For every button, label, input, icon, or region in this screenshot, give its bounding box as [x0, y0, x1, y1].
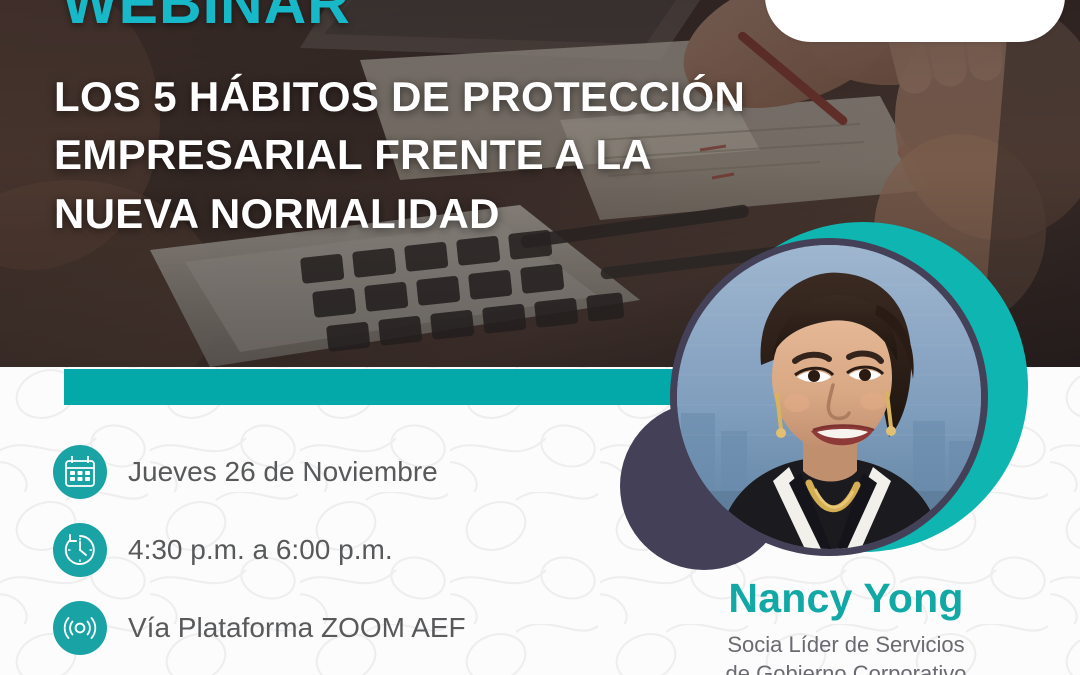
webinar-flyer: WEBINAR LOS 5 HÁBITOS DE PROTECCIÓN EMPR… [0, 0, 1080, 675]
speaker-name: Nancy Yong [612, 578, 1080, 619]
detail-row-platform: Vía Plataforma ZOOM AEF [52, 600, 612, 675]
speaker-role-line-2: de Gobierno Corporativo [612, 659, 1080, 675]
speaker-photo [677, 245, 981, 549]
logo-badge [765, 0, 1065, 42]
teal-accent-bar [64, 369, 673, 405]
clock-icon [52, 522, 108, 578]
detail-row-date: Jueves 26 de Noviembre [52, 444, 612, 522]
title-line-2: EMPRESARIAL FRENTE A LA [54, 126, 884, 184]
detail-text-date: Jueves 26 de Noviembre [128, 447, 438, 497]
calendar-icon [52, 444, 108, 500]
webinar-eyebrow: WEBINAR [62, 0, 351, 33]
title-line-1: LOS 5 HÁBITOS DE PROTECCIÓN [54, 68, 884, 126]
detail-text-platform: Vía Plataforma ZOOM AEF [128, 603, 466, 653]
detail-text-time: 4:30 p.m. a 6:00 p.m. [128, 525, 393, 575]
portrait-ring [670, 238, 988, 556]
detail-row-time: 4:30 p.m. a 6:00 p.m. [52, 522, 612, 600]
speaker-portrait-group [612, 216, 1080, 576]
event-details-list: Jueves 26 de Noviembre [52, 444, 612, 675]
speaker-role: Socia Líder de Servicios de Gobierno Cor… [612, 630, 1080, 675]
speaker-role-line-1: Socia Líder de Servicios [612, 630, 1080, 659]
broadcast-icon [52, 600, 108, 656]
